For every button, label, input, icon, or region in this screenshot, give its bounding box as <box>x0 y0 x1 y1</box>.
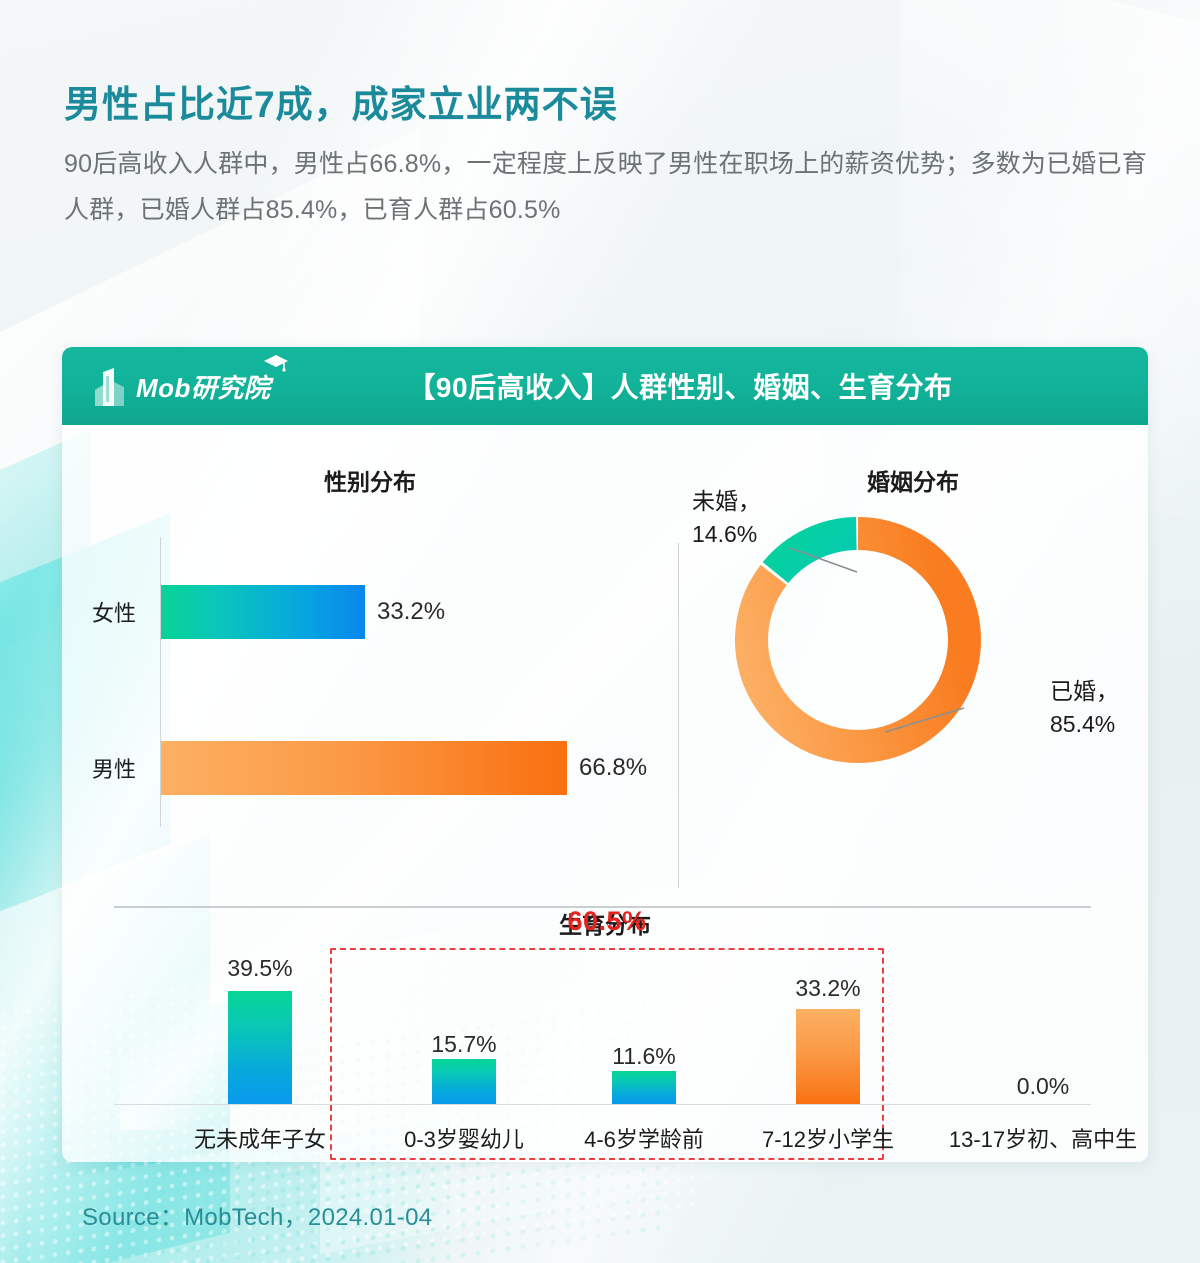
fertility-value-infant: 15.7% <box>431 1031 496 1058</box>
gender-bar-label-male: 男性 <box>78 752 150 784</box>
donut-label-married: 已婚， 85.4% <box>1050 675 1119 742</box>
fertility-category-secondary: 13-17岁初、高中生 <box>949 1122 1137 1154</box>
gender-distribution-chart: 性别分布 女性 33.2% 男性 66.8% <box>62 425 678 895</box>
fertility-bar-primary <box>796 1009 860 1104</box>
fertility-group-no-minor-children: 39.5% 无未成年子女 <box>180 906 340 1162</box>
donut-label-married-line2: 85.4% <box>1050 708 1119 741</box>
page-title: 男性占比近7成，成家立业两不误 <box>64 82 1154 128</box>
marriage-distribution-chart: 婚姻分布 <box>678 425 1148 895</box>
donut-label-unmarried-line2: 14.6% <box>692 518 761 551</box>
card-header: Mob研究院 【90后高收入】人群性别、婚姻、生育分布 <box>62 347 1148 425</box>
source-note: Source：MobTech，2024.01-04 <box>82 1197 432 1232</box>
fertility-bar-no-minor-children <box>228 991 292 1104</box>
page-description: 90后高收入人群中，男性占66.8%，一定程度上反映了男性在职场上的薪资优势；多… <box>64 142 1154 233</box>
fertility-value-preschool: 11.6% <box>612 1043 676 1070</box>
card-title: 【90后高收入】人群性别、婚姻、生育分布 <box>62 366 1148 406</box>
fertility-value-secondary: 0.0% <box>1017 1073 1069 1100</box>
card-body: 性别分布 女性 33.2% 男性 66.8% 婚姻分布 <box>62 425 1148 1162</box>
gender-bar-value-male: 66.8% <box>579 754 647 782</box>
fertility-category-primary: 7-12岁小学生 <box>762 1122 894 1154</box>
gender-bar-value-female: 33.2% <box>377 598 445 626</box>
fertility-category-infant: 0-3岁婴幼儿 <box>404 1122 524 1154</box>
fertility-value-primary: 33.2% <box>795 975 860 1002</box>
fertility-bar-preschool <box>612 1071 676 1104</box>
gender-bar-row-female: 女性 33.2% <box>62 585 678 639</box>
fertility-group-preschool: 11.6% 4-6岁学龄前 <box>564 906 724 1162</box>
fertility-bar-infant <box>432 1059 496 1104</box>
gender-bar-female <box>161 585 365 639</box>
donut-label-unmarried-line1: 未婚， <box>692 485 761 518</box>
chart-card: Mob研究院 【90后高收入】人群性别、婚姻、生育分布 性别分布 <box>62 347 1148 1162</box>
marriage-donut <box>728 510 988 770</box>
fertility-category-no-minor-children: 无未成年子女 <box>194 1122 326 1154</box>
headline-block: 男性占比近7成，成家立业两不误 90后高收入人群中，男性占66.8%，一定程度上… <box>64 82 1154 233</box>
fertility-distribution-chart: 生育分布 60.5% 39.5% 无未成年子女 15.7% 0-3岁婴幼儿 <box>62 906 1148 1162</box>
fertility-group-infant: 15.7% 0-3岁婴幼儿 <box>384 906 544 1162</box>
infographic-root: 男性占比近7成，成家立业两不误 90后高收入人群中，男性占66.8%，一定程度上… <box>0 0 1200 1263</box>
fertility-group-primary: 33.2% 7-12岁小学生 <box>748 906 908 1162</box>
gender-bar-male <box>161 741 567 795</box>
fertility-category-preschool: 4-6岁学龄前 <box>584 1122 704 1154</box>
gender-bar-row-male: 男性 66.8% <box>62 741 678 795</box>
fertility-value-no-minor-children: 39.5% <box>227 955 292 982</box>
donut-label-married-line1: 已婚， <box>1050 675 1119 708</box>
gender-bar-label-female: 女性 <box>78 596 150 628</box>
gender-chart-title: 性别分布 <box>62 463 678 497</box>
donut-label-unmarried: 未婚， 14.6% <box>692 485 761 552</box>
fertility-group-secondary: 0.0% 13-17岁初、高中生 <box>938 906 1148 1162</box>
